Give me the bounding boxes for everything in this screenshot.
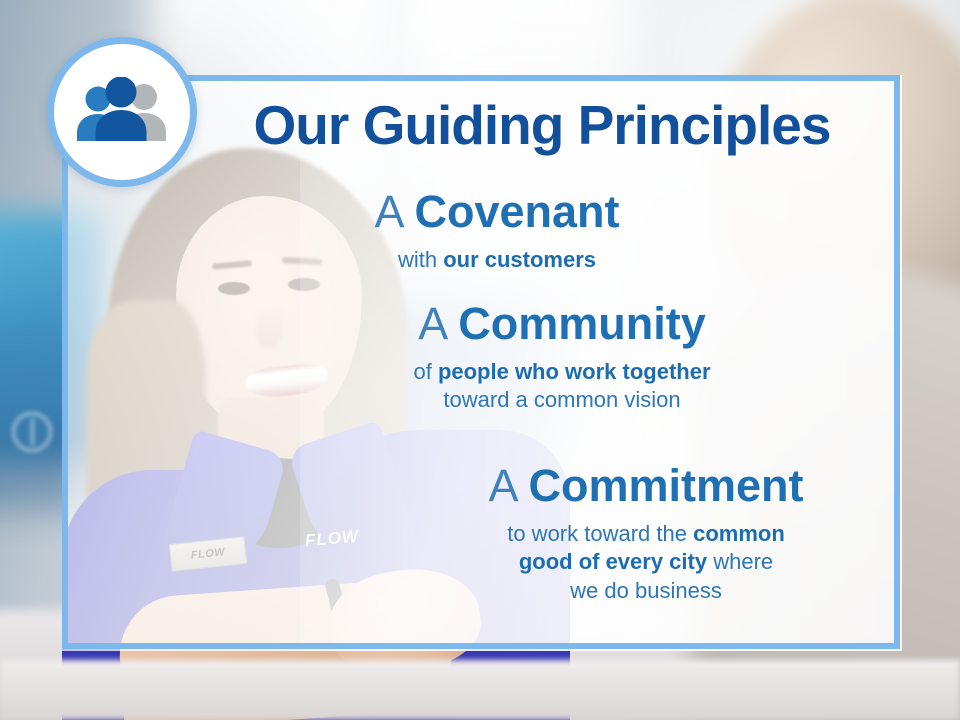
principle-community: A Community of people who work togethert… bbox=[342, 300, 782, 415]
guiding-principles-banner: FLOW FLOW Our Guiding Principles A bbox=[0, 0, 960, 720]
principle-covenant-heading: A Covenant bbox=[292, 188, 702, 237]
people-group-icon bbox=[70, 77, 174, 147]
principle-covenant-sub-run: our customers bbox=[443, 247, 596, 272]
principle-community-sub-run: people who work together bbox=[438, 359, 711, 384]
principle-commitment: A Commitment to work toward the commongo… bbox=[400, 462, 892, 605]
principle-community-sub-run: toward a common vision bbox=[443, 387, 680, 412]
principle-commitment-sub-run: common bbox=[693, 521, 785, 546]
principle-community-subtext: of people who work togethertoward a comm… bbox=[342, 358, 782, 415]
principle-covenant: A Covenant with our customers bbox=[292, 188, 702, 274]
desk-surface bbox=[0, 660, 960, 720]
principle-commitment-article: A bbox=[488, 460, 528, 511]
principle-covenant-article: A bbox=[374, 186, 414, 237]
employee-name-badge-text: FLOW bbox=[190, 546, 225, 562]
principle-covenant-subtext: with our customers bbox=[292, 246, 702, 275]
principle-commitment-sub-run: where bbox=[707, 549, 773, 574]
principle-commitment-heading: A Commitment bbox=[400, 462, 892, 511]
principle-commitment-sub-run: we do business bbox=[570, 578, 722, 603]
principle-covenant-sub-run: with bbox=[398, 247, 443, 272]
principle-covenant-keyword: Covenant bbox=[415, 186, 620, 237]
principle-commitment-subtext: to work toward the commongood of every c… bbox=[400, 520, 892, 606]
employee-nose bbox=[256, 306, 282, 348]
principle-community-keyword: Community bbox=[458, 298, 706, 349]
principle-community-article: A bbox=[418, 298, 458, 349]
principle-commitment-keyword: Commitment bbox=[529, 460, 804, 511]
principle-community-sub-run: of bbox=[413, 359, 437, 384]
employee-eye-left bbox=[218, 282, 250, 295]
page-title: Our Guiding Principles bbox=[212, 98, 872, 153]
people-group-badge bbox=[47, 37, 197, 187]
employee-eye-right bbox=[288, 278, 320, 291]
principle-community-heading: A Community bbox=[342, 300, 782, 349]
principle-commitment-sub-run: to work toward the bbox=[507, 521, 693, 546]
principle-commitment-sub-run: good of every city bbox=[519, 549, 707, 574]
